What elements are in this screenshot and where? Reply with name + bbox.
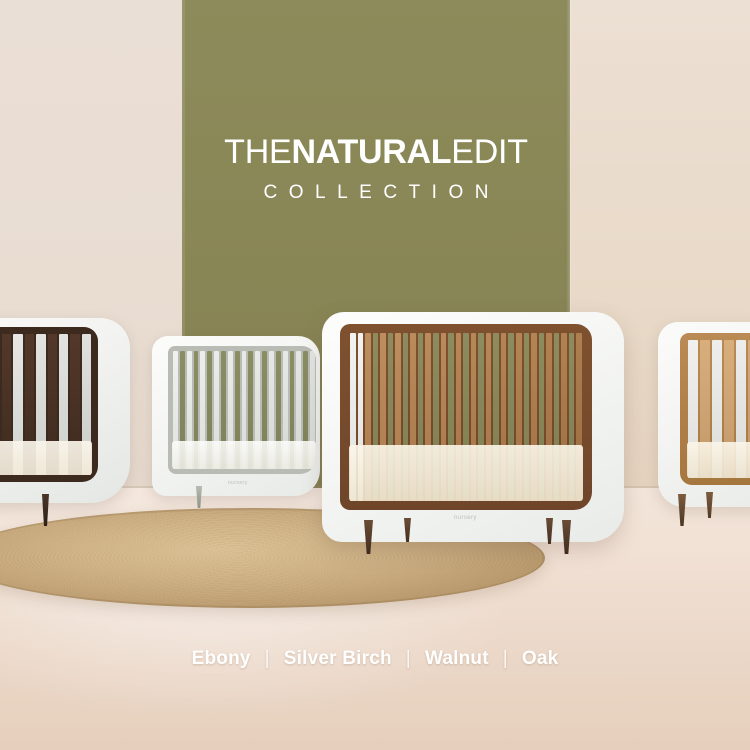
crib-ebony-mattress <box>0 441 92 475</box>
headline-part-edit: EDIT <box>451 133 528 171</box>
crib-silver-birch-brandmark: nursery <box>228 480 247 486</box>
crib-silver-birch-mattress <box>172 441 316 469</box>
crib-ebony-slat-panel <box>0 327 98 482</box>
headline-part-natural: NATURAL <box>292 133 452 171</box>
crib-walnut-brandmark: nursery <box>454 515 477 521</box>
finish-options-bar: Ebony | Silver Birch | Walnut | Oak <box>0 648 750 670</box>
crib-oak-slat-panel <box>680 333 750 485</box>
crib-walnut[interactable]: nursery <box>322 312 624 542</box>
headline-part-the: THE <box>224 133 291 171</box>
finish-option-walnut[interactable]: Walnut <box>411 648 503 670</box>
crib-walnut-mattress <box>349 445 583 501</box>
hero-headline-block: THENATURALEDIT COLLECTION <box>182 132 570 205</box>
headline-title: THENATURALEDIT <box>182 132 570 172</box>
finish-option-silver-birch[interactable]: Silver Birch <box>270 648 406 670</box>
crib-oak-mattress <box>687 442 750 478</box>
crib-silver-birch-slat-panel <box>168 346 316 474</box>
finish-option-oak[interactable]: Oak <box>508 648 573 670</box>
finish-option-ebony[interactable]: Ebony <box>178 648 265 670</box>
headline-subtitle: COLLECTION <box>182 181 570 205</box>
crib-walnut-slat-panel <box>340 324 592 510</box>
crib-silver-birch[interactable]: nursery <box>152 336 320 496</box>
crib-oak[interactable] <box>658 322 750 507</box>
product-hero-scene: THENATURALEDIT COLLECTION <box>0 0 750 750</box>
crib-ebony[interactable]: nursery <box>0 318 130 503</box>
